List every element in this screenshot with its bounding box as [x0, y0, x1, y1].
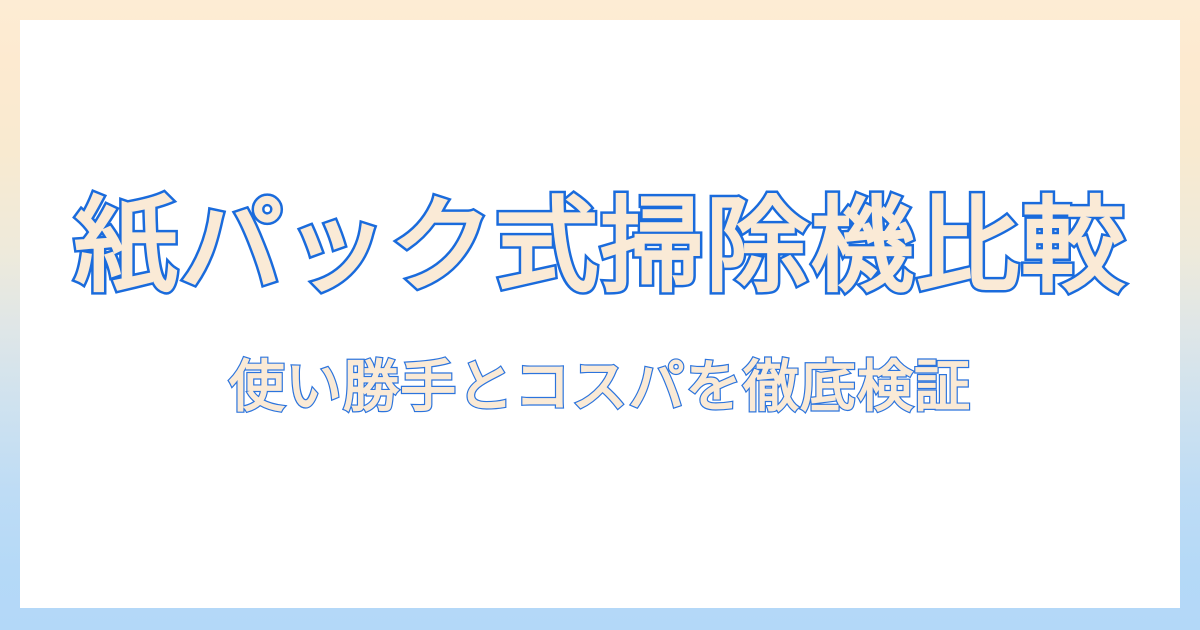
subtitle-container: 使い勝手とコスパを徹底検証: [20, 356, 1180, 420]
white-card: 紙パック式掃除機比較 使い勝手とコスパを徹底検証: [20, 20, 1180, 608]
page-title: 紙パック式掃除機比較: [68, 188, 1132, 304]
eyecatch-canvas: 紙パック式掃除機比較 使い勝手とコスパを徹底検証: [0, 0, 1200, 630]
page-subtitle: 使い勝手とコスパを徹底検証: [225, 356, 976, 420]
text-content-block: 紙パック式掃除機比較 使い勝手とコスパを徹底検証: [20, 188, 1180, 421]
title-container: 紙パック式掃除機比較: [20, 188, 1180, 304]
